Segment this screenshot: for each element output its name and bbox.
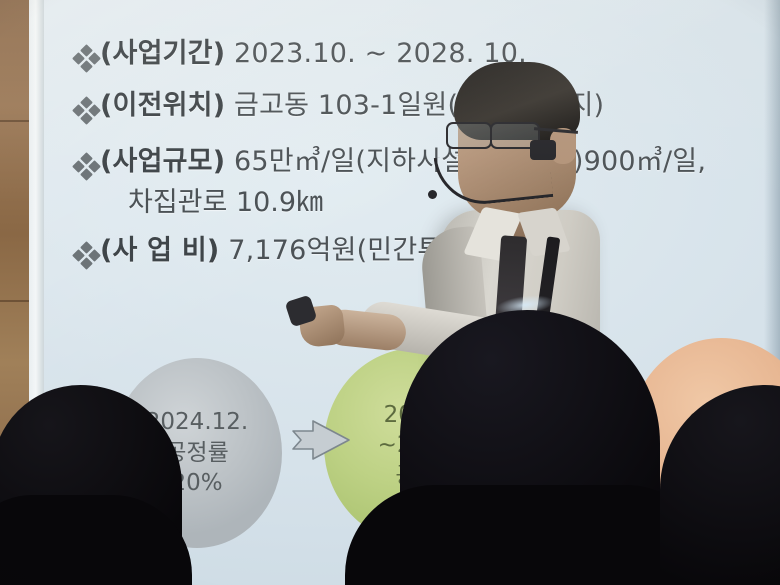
bullet-head-3: (사업규모) <box>100 146 225 177</box>
four-diamond-bullet-icon <box>74 243 100 269</box>
presentation-photo: (사업기간) 2023.10. ~ 2028. 10. (이전위치) 금고동 1… <box>0 0 780 585</box>
audience-head-center <box>400 310 660 585</box>
four-diamond-bullet-icon <box>74 154 100 180</box>
four-diamond-bullet-icon <box>74 98 100 124</box>
bullet-head-2: (이전위치) <box>100 90 225 121</box>
four-diamond-bullet-icon <box>74 46 100 72</box>
bullet-head-4: (사 업 비) <box>100 235 219 266</box>
headset-microphone-tip <box>428 190 437 199</box>
bullet-head-1: (사업기간) <box>100 38 225 69</box>
right-arrow-icon <box>291 418 353 462</box>
headset-microphone-pod <box>530 140 556 160</box>
